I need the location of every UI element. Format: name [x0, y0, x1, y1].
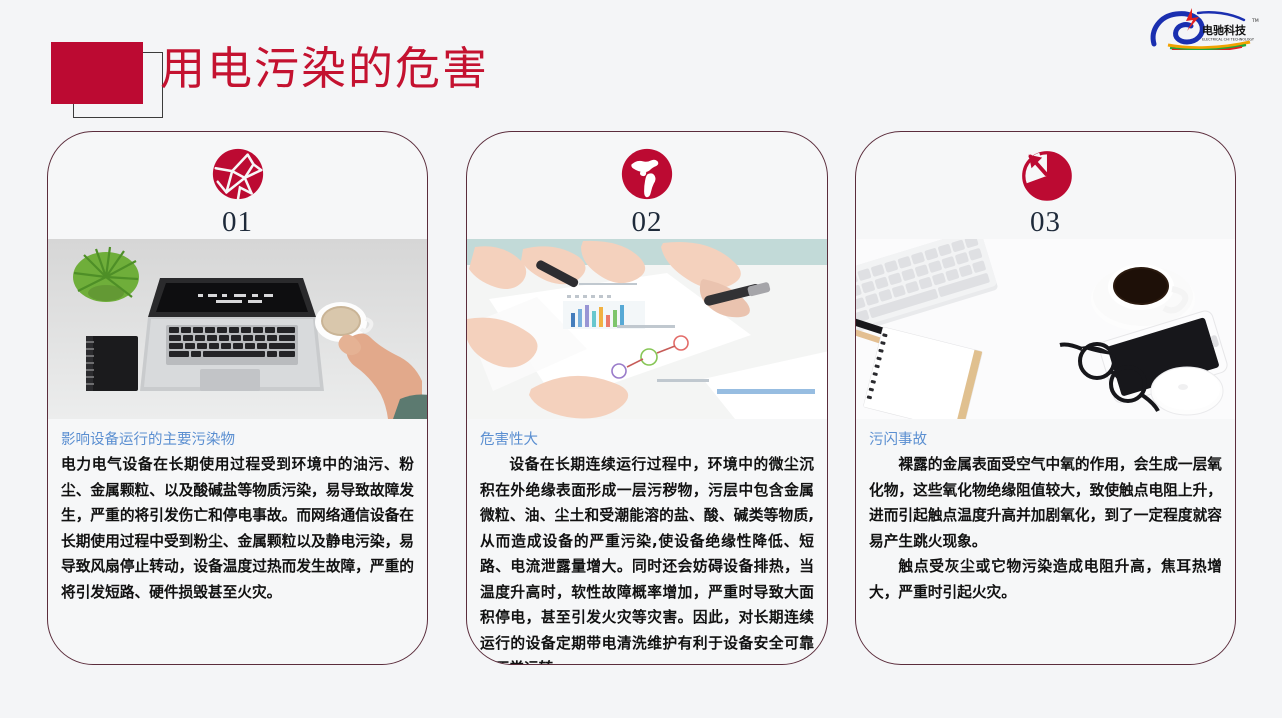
- card-paragraph: 裸露的金属表面受空气中氧的作用，会生成一层氧化物，这些氧化物绝缘阻值较大，致使触…: [869, 452, 1222, 554]
- card-paragraph: 触点受灰尘或它物污染造成电阻升高，焦耳热增大，严重时引起火灾。: [869, 554, 1222, 605]
- card-body: 影响设备运行的主要污染物 电力电气设备在长期使用过程受到环境中的油污、粉尘、金属…: [48, 419, 427, 605]
- card-paragraph: 设备在长期连续运行过程中，环境中的微尘沉积在外绝缘表面形成一层污秽物，污层中包含…: [480, 452, 814, 665]
- card-photo-team-charts: [467, 239, 827, 419]
- card-header: 02: [467, 132, 827, 239]
- team-analysis-illustration: [467, 239, 827, 419]
- card-paragraph: 电力电气设备在长期使用过程受到环境中的油污、粉尘、金属颗粒、以及酸碱盐等物质污染…: [61, 452, 414, 605]
- card-subtitle: 危害性大: [480, 429, 814, 451]
- info-card-02[interactable]: 02: [466, 131, 828, 665]
- white-desk-illustration: [856, 239, 1235, 419]
- card-number: 01: [222, 205, 253, 239]
- card-photo-white-desk: [856, 239, 1235, 419]
- info-card-01[interactable]: 01: [47, 131, 428, 665]
- card-body: 污闪事故 裸露的金属表面受空气中氧的作用，会生成一层氧化物，这些氧化物绝缘阻值较…: [856, 419, 1235, 605]
- card-photo-laptop-desk: [48, 239, 427, 419]
- card-body: 危害性大 设备在长期连续运行过程中，环境中的微尘沉积在外绝缘表面形成一层污秽物，…: [467, 419, 827, 665]
- info-card-03[interactable]: 03: [855, 131, 1236, 665]
- globe-icon: [618, 145, 676, 203]
- card-number: 03: [1030, 205, 1061, 239]
- card-subtitle: 影响设备运行的主要污染物: [61, 429, 414, 451]
- cracked-sphere-icon: [209, 145, 267, 203]
- cards-container: 01: [0, 0, 1282, 718]
- pie-slice-icon: [1017, 145, 1075, 203]
- card-subtitle: 污闪事故: [869, 429, 1222, 451]
- laptop-desk-illustration: [48, 239, 427, 419]
- card-header: 01: [48, 132, 427, 239]
- card-header: 03: [856, 132, 1235, 239]
- card-number: 02: [632, 205, 663, 239]
